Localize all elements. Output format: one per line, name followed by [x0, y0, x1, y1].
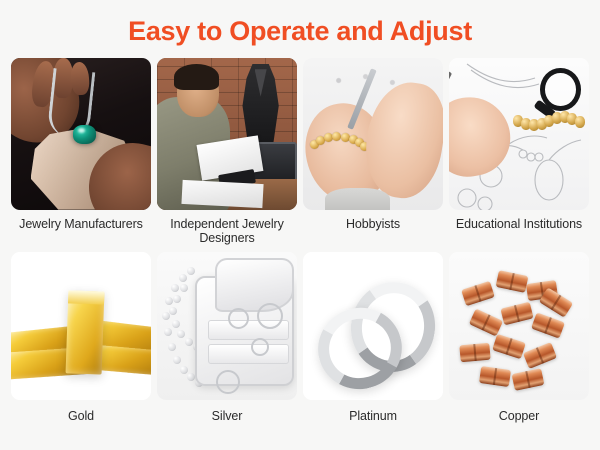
cell-caption: Jewelry Manufacturers	[19, 210, 143, 232]
chain-link	[173, 356, 181, 364]
cell-caption: Platinum	[349, 400, 397, 424]
chain-link	[177, 330, 185, 338]
cell-caption: Educational Institutions	[456, 210, 582, 232]
chain-link	[172, 320, 180, 328]
copper-billet	[469, 309, 503, 337]
chain-link	[187, 373, 195, 381]
grid-cell-silver[interactable]: Silver	[157, 252, 297, 424]
chain-link	[185, 338, 193, 346]
cell-caption: Gold	[68, 400, 94, 424]
grid-cell-gold[interactable]: Gold	[11, 252, 151, 424]
audience-grid: Jewelry Manufacturers Independent Jewelr…	[0, 58, 600, 247]
copper-billet	[512, 368, 545, 391]
silver-jewelry-photo[interactable]	[157, 252, 297, 400]
chain-link	[168, 343, 176, 351]
copper-billet	[479, 366, 511, 387]
gold-bead	[575, 116, 585, 128]
page-title: Easy to Operate and Adjust	[0, 0, 600, 47]
grid-cell-platinum[interactable]: Platinum	[303, 252, 443, 424]
grid-cell-educational-institutions[interactable]: Educational Institutions	[449, 58, 589, 247]
hobbyist-photo[interactable]	[303, 58, 443, 210]
grid-cell-hobbyists[interactable]: Hobbyists	[303, 58, 443, 247]
chain-link	[164, 328, 172, 336]
chain-link	[180, 284, 188, 292]
cell-caption: Independent Jewelry Designers	[157, 210, 297, 247]
chain-link	[165, 297, 173, 305]
copper-billets-photo[interactable]	[449, 252, 589, 400]
chain-link	[173, 295, 181, 303]
copper-billet	[531, 313, 565, 339]
chain-link	[171, 284, 179, 292]
grid-cell-copper[interactable]: Copper	[449, 252, 589, 424]
cell-caption: Silver	[212, 400, 243, 424]
chain-link	[180, 366, 188, 374]
grid-cell-independent-jewelry-designers[interactable]: Independent Jewelry Designers	[157, 58, 297, 247]
promo-page: Easy to Operate and Adjust Jewelry Manuf…	[0, 0, 600, 450]
copper-billet	[495, 270, 528, 293]
chain-link	[169, 307, 177, 315]
cell-caption: Copper	[499, 400, 539, 424]
independent-jewelry-designer-photo[interactable]	[157, 58, 297, 210]
grid-cell-jewelry-manufacturers[interactable]: Jewelry Manufacturers	[11, 58, 151, 247]
chain-link	[187, 267, 195, 275]
gold-bars-photo[interactable]	[11, 252, 151, 400]
copper-billet	[523, 342, 557, 369]
chain-link	[179, 274, 187, 282]
copper-billet	[501, 302, 534, 326]
jewelry-manufacturer-photo[interactable]	[11, 58, 151, 210]
material-grid: Gold Silver	[0, 252, 600, 424]
copper-billet	[461, 281, 495, 306]
copper-billet	[460, 343, 491, 363]
cell-caption: Hobbyists	[346, 210, 400, 232]
educational-institution-photo[interactable]	[449, 58, 589, 210]
platinum-rings-photo[interactable]	[303, 252, 443, 400]
copper-billet	[492, 334, 526, 359]
